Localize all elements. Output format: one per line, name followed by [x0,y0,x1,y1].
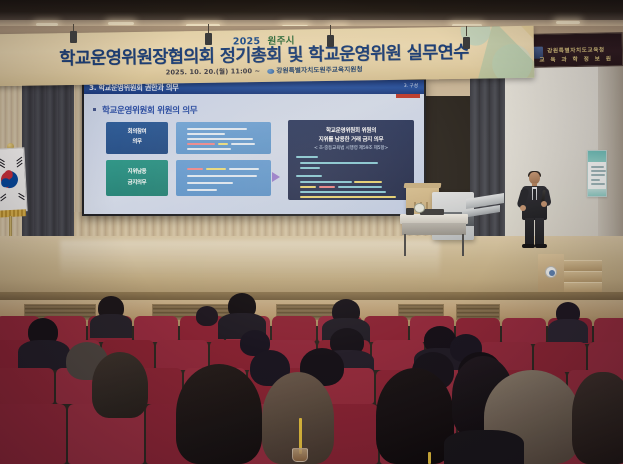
auditorium-seat [364,316,408,342]
drink-straw [428,452,431,464]
poster-text-line [591,170,606,172]
poster-text-line [591,179,600,181]
auditorium-seat [588,342,623,372]
ceiling-light-icon [556,21,580,24]
auditorium-photo: 강원특별자치도교육청 교 육 과 학 정 보 원 3. 학교운영위원회 권한과 … [0,0,623,464]
slide-box-duty-attendance: 회의참여 의무 [106,122,168,154]
slide-arrow-icon [272,172,280,182]
table-item-emblem [414,203,425,213]
slide-surface: 3. 학교운영위원회 권한과 의무 3. 구성 학교운영위원회 위원의 의무 회… [84,80,424,214]
banner-clip [327,35,334,47]
wall-sign-line1: 강원특별자치도교육청 [530,45,622,55]
presenter-shoe-left [522,244,535,248]
drink-cup [292,448,308,462]
korean-national-flag [0,147,28,212]
audience-head-foreground [92,352,148,418]
poster-footer-band [588,189,606,196]
auditorium-seat [594,318,623,344]
presenter-hand-right [541,201,547,207]
auditorium-seat [0,368,54,404]
slide-detail-box-1 [176,122,271,154]
institution-wall-sign: 강원특별자치도교육청 교 육 과 학 정 보 원 [529,32,623,68]
banner-organizer: 강원특별자치도원주교육지원청 [276,65,362,74]
presenter-tie [533,189,536,200]
stair-seal-icon [545,266,557,278]
auditorium-seat [534,342,586,372]
slide-navy-panel: 학교운영위원회 위원의 지위를 남용한 거래 금지 의무 < 초·중등교육법 시… [288,120,414,200]
slide-page-badge: 3. 구성 [404,83,418,89]
banner-clip [205,33,212,45]
projection-screen: 3. 학교운영위원회 권한과 의무 3. 구성 학교운영위원회 위원의 의무 회… [82,78,426,216]
audience-head-foreground [572,372,623,464]
poster-header-band [588,151,606,162]
flag-fringe [0,209,26,218]
auditorium-seat [156,340,208,370]
poster-text-line [591,174,605,176]
presenter-leg-left [525,218,534,246]
navy-panel-title2: 지위를 남용한 거래 금지 의무 [288,135,414,143]
slide-bullet-heading: 학교운영위원회 위원의 의무 [102,104,197,116]
audience-shoulders [548,319,588,343]
audience-shoulders [90,314,132,338]
ceiling-light-icon [108,22,134,25]
auditorium-seat [134,316,178,342]
auditorium-seat [272,316,316,342]
stage-floor-reflection [60,240,440,280]
navy-panel-subtitle: < 초·중등교육법 시행령 제59조 제5항> [288,145,414,151]
audience-head [196,306,218,326]
presenter [517,172,551,250]
slide-accent-bar [396,94,420,98]
org-logo-icon [267,68,274,73]
audience-shoulders-foreground [444,430,524,464]
auditorium-seat [0,404,66,464]
presenter-leg-right [535,218,544,246]
slide-detail-box-2 [176,160,271,196]
presenter-shoe-right [535,244,547,248]
audience-head-foreground [176,364,262,464]
audience-shoulders [18,340,70,370]
event-banner: 2025 원주시 학교운영위원장협의회 정기총회 및 학교운영위원 실무연수 2… [0,26,534,86]
lectern-top [404,183,442,188]
audience-head-foreground [376,368,454,464]
auditorium-seat [502,318,546,344]
banner-wire [330,25,331,35]
slide-box-duty-nonabuse: 지위남용 금지의무 [106,160,168,196]
table-item-box [406,208,414,215]
banner-datetime: 2025. 10. 20.(월) 11:00 ~ [166,67,261,76]
poster-text-line [591,166,604,168]
stage-table-apron [402,223,466,235]
banner-clip [463,37,470,49]
wall-sign-line2: 교 육 과 학 정 보 원 [530,54,622,64]
poster-text-line [591,183,605,185]
banner-wire [466,26,467,36]
presenter-hand-left [520,205,526,211]
navy-panel-title: 학교운영위원회 위원의 [288,126,414,134]
wall-poster [587,150,607,197]
banner-clip [70,31,77,43]
taeguk-blue-lobe [1,178,10,187]
